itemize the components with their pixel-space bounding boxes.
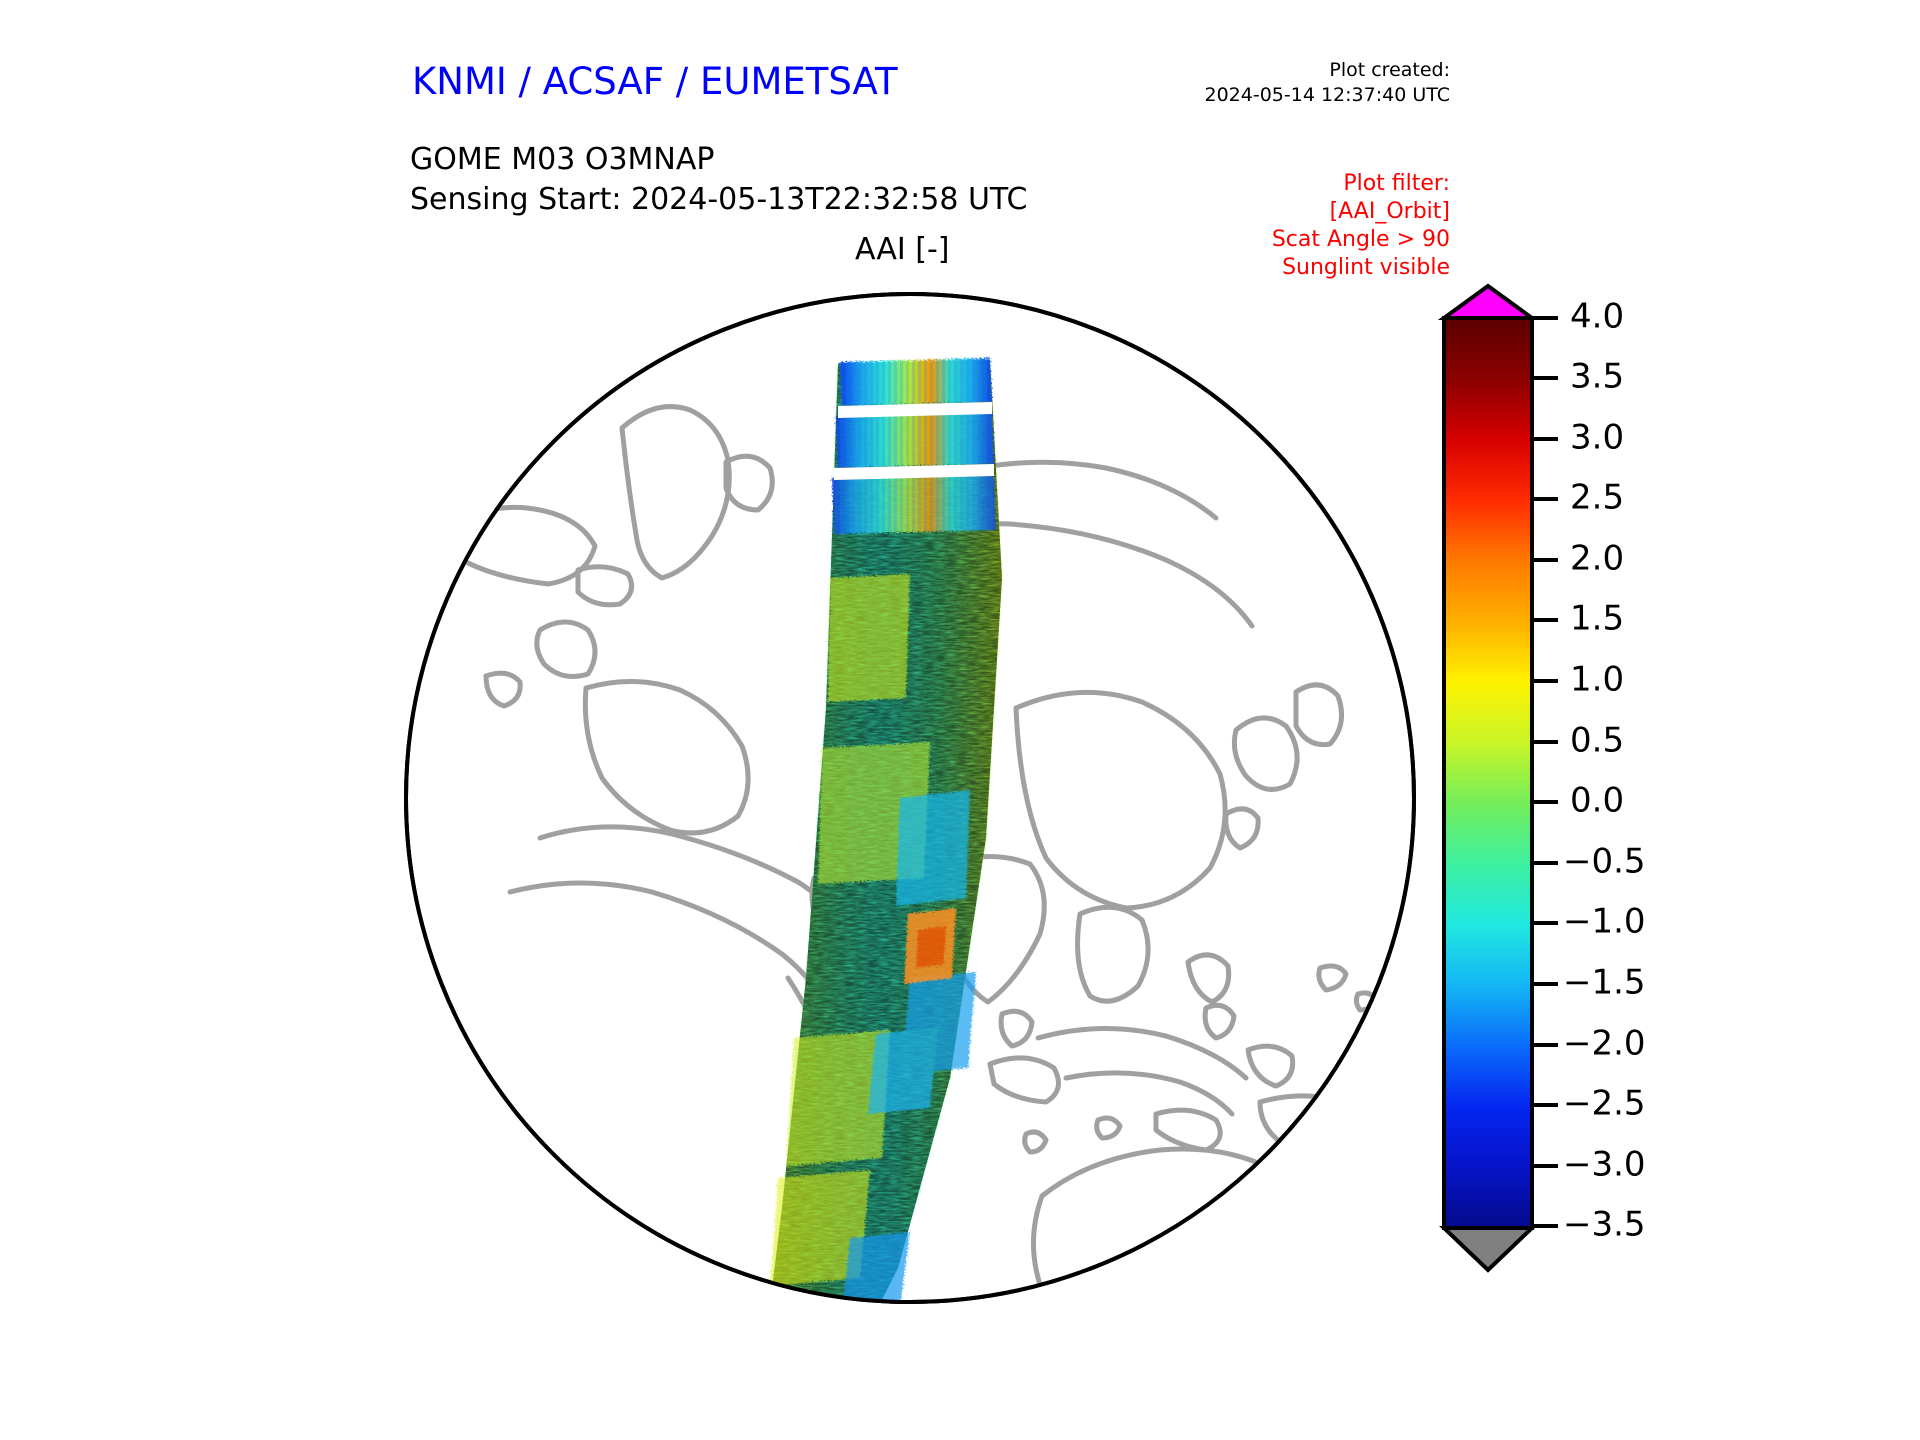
colorbar: 4.0 3.5 3.0 2.5 2.0 1.5 1.0 0.5 0.0 −0.5…: [1430, 280, 1660, 1330]
dataset-info-block: GOME M03 O3MNAP Sensing Start: 2024-05-1…: [410, 140, 1027, 219]
colorbar-tick-label: 3.0: [1570, 418, 1624, 458]
colorbar-tick-label: 0.0: [1570, 781, 1624, 821]
colorbar-tick-label: −3.5: [1563, 1205, 1646, 1245]
sensing-start: Sensing Start: 2024-05-13T22:32:58 UTC: [410, 180, 1027, 220]
colorbar-tick-label: −0.5: [1563, 842, 1646, 882]
colorbar-tick-label: 1.0: [1570, 660, 1624, 700]
colorbar-tick-label: 2.0: [1570, 539, 1624, 579]
plot-created-timestamp: 2024-05-14 12:37:40 UTC: [1205, 83, 1451, 108]
plot-created-block: Plot created: 2024-05-14 12:37:40 UTC: [1205, 58, 1451, 109]
colorbar-tick-label: −2.0: [1563, 1024, 1646, 1064]
colorbar-tick-label: −2.5: [1563, 1084, 1646, 1124]
plot-filter-label: Plot filter:: [1272, 170, 1450, 198]
colorbar-over-range-arrow: [1444, 286, 1532, 318]
colorbar-tick-label: −1.0: [1563, 902, 1646, 942]
colorbar-tick-label: 2.5: [1570, 478, 1624, 518]
plot-filter-scat-angle: Scat Angle > 90: [1272, 226, 1450, 254]
colorbar-tick-label: 4.0: [1570, 297, 1624, 337]
colorbar-tick-label: 0.5: [1570, 721, 1624, 761]
map-plot-area: [390, 278, 1430, 1318]
colorbar-tick-label: 1.5: [1570, 599, 1624, 639]
colorbar-ticks: [1532, 318, 1558, 1226]
orthographic-globe: [390, 278, 1430, 1318]
dataset-name: GOME M03 O3MNAP: [410, 140, 1027, 180]
colorbar-tick-labels: 4.0 3.5 3.0 2.5 2.0 1.5 1.0 0.5 0.0 −0.5…: [1563, 297, 1646, 1245]
variable-title: AAI [-]: [855, 232, 950, 267]
colorbar-svg: 4.0 3.5 3.0 2.5 2.0 1.5 1.0 0.5 0.0 −0.5…: [1430, 280, 1660, 1330]
colorbar-tick-label: −3.0: [1563, 1145, 1646, 1185]
colorbar-gradient: [1444, 318, 1532, 1228]
organization-title: KNMI / ACSAF / EUMETSAT: [412, 60, 898, 103]
colorbar-under-range-arrow: [1444, 1228, 1532, 1270]
colorbar-tick-label: −1.5: [1563, 963, 1646, 1003]
colorbar-tick-label: 3.5: [1570, 357, 1624, 397]
plot-filter-product: [AAI_Orbit]: [1272, 198, 1450, 226]
plot-filter-block: Plot filter: [AAI_Orbit] Scat Angle > 90…: [1272, 170, 1450, 283]
plot-created-label: Plot created:: [1205, 58, 1451, 83]
